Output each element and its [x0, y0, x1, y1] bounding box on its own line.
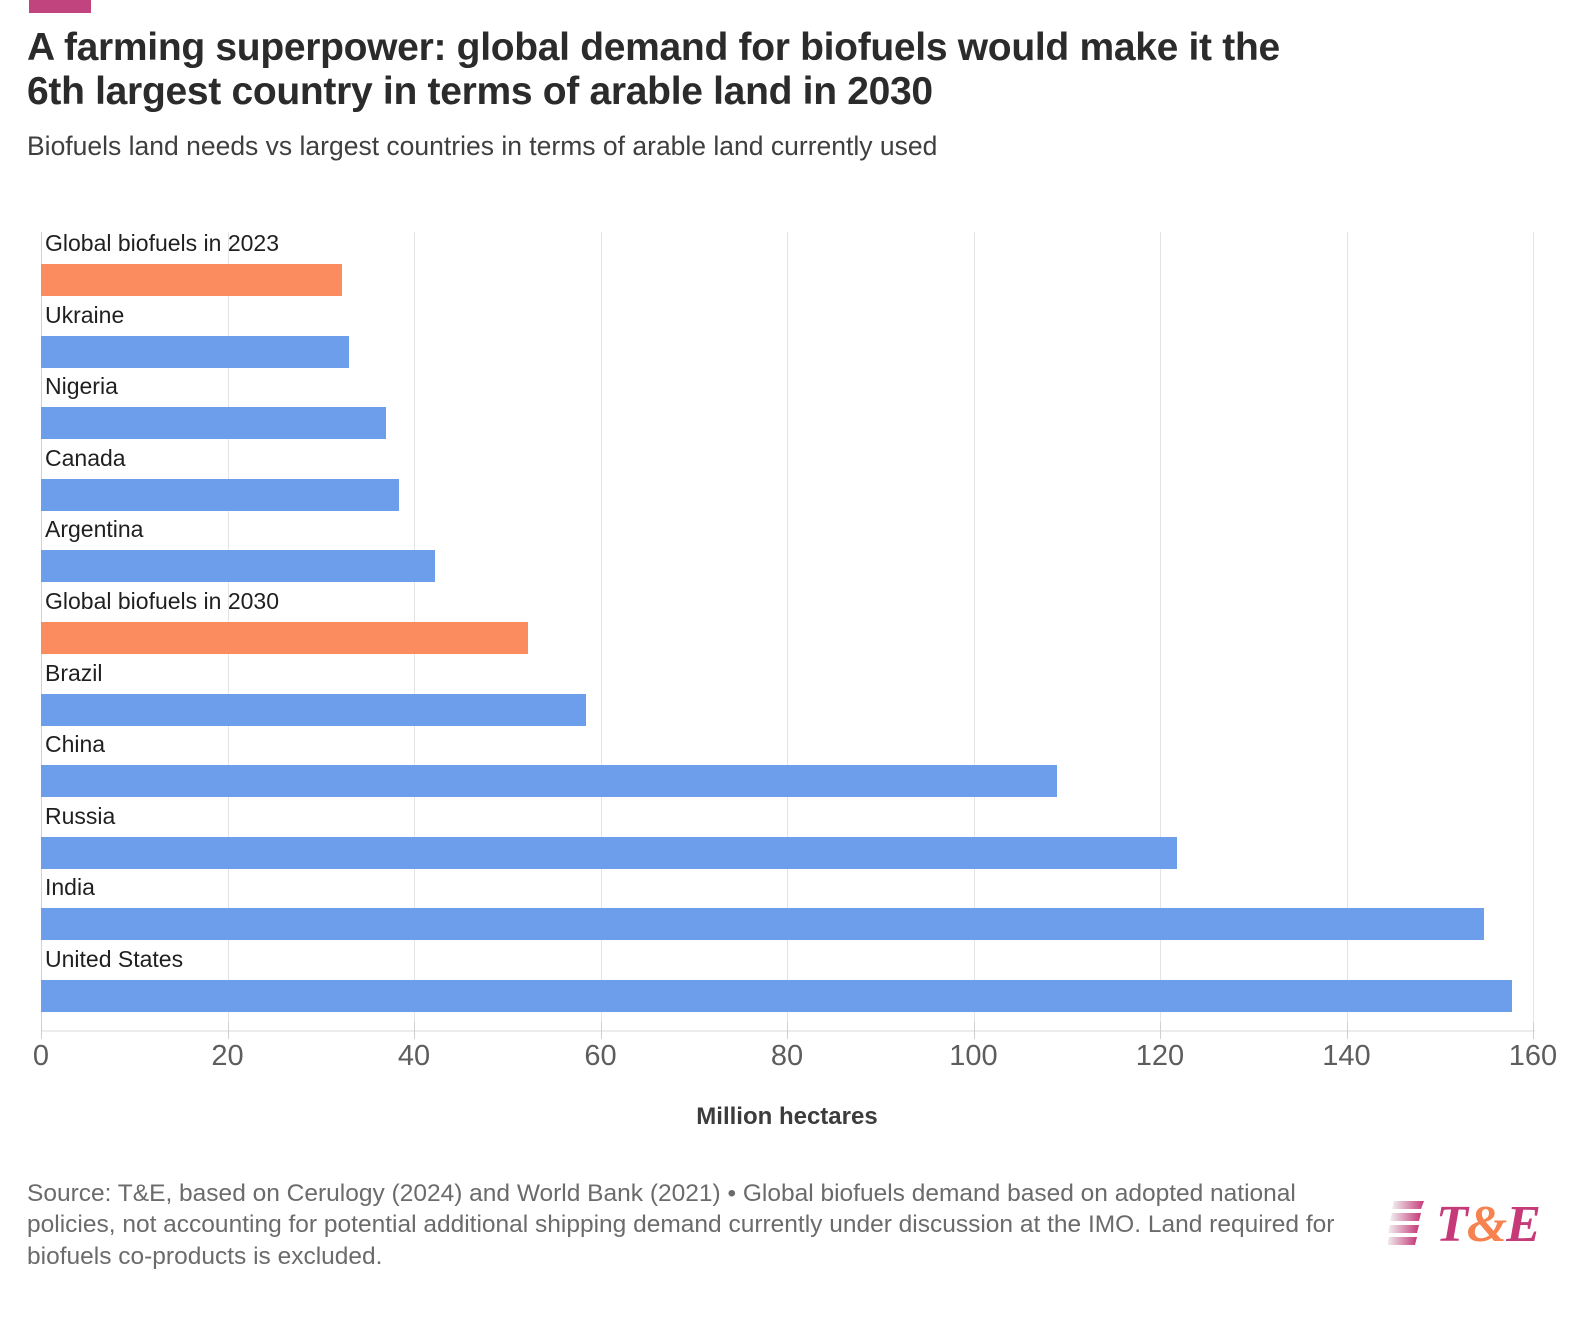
- bar[interactable]: [41, 908, 1484, 940]
- x-tick-label: 80: [771, 1040, 803, 1073]
- x-tick-mark: [1533, 1022, 1534, 1039]
- bar-row[interactable]: Argentina: [41, 518, 1533, 590]
- page-title: A farming superpower: global demand for …: [27, 26, 1327, 115]
- x-tick-mark: [1160, 1022, 1161, 1039]
- bar[interactable]: [41, 622, 528, 654]
- x-tick-label: 20: [211, 1040, 243, 1073]
- bar[interactable]: [41, 264, 342, 296]
- bar-label: India: [45, 876, 95, 899]
- logo-letter-t: T: [1436, 1196, 1467, 1253]
- bar-label: Brazil: [45, 662, 103, 685]
- x-tick-label: 100: [949, 1040, 997, 1073]
- x-tick-mark: [974, 1022, 975, 1039]
- x-tick-label: 0: [33, 1040, 49, 1073]
- stacked-stripes-icon: [1388, 1199, 1426, 1251]
- bar-row[interactable]: China: [41, 733, 1533, 805]
- bar-label: Ukraine: [45, 304, 124, 327]
- chart-plot-area: Global biofuels in 2023UkraineNigeriaCan…: [0, 232, 1590, 1032]
- x-tick-mark: [1347, 1022, 1348, 1039]
- x-tick-mark: [41, 1022, 42, 1039]
- bar[interactable]: [41, 980, 1512, 1012]
- bar-row[interactable]: Brazil: [41, 662, 1533, 734]
- bar-label: Russia: [45, 805, 115, 828]
- bar[interactable]: [41, 694, 586, 726]
- bar[interactable]: [41, 407, 386, 439]
- x-axis-ticks: 020406080100120140160: [41, 1022, 1533, 1082]
- x-tick-label: 160: [1509, 1040, 1557, 1073]
- x-tick-label: 140: [1322, 1040, 1370, 1073]
- bar-row[interactable]: India: [41, 876, 1533, 948]
- bar[interactable]: [41, 837, 1177, 869]
- bar-row[interactable]: Ukraine: [41, 304, 1533, 376]
- bar-label: United States: [45, 948, 183, 971]
- bar-label: Nigeria: [45, 375, 118, 398]
- x-tick-label: 60: [584, 1040, 616, 1073]
- bar-row[interactable]: Global biofuels in 2030: [41, 590, 1533, 662]
- x-tick-mark: [228, 1022, 229, 1039]
- chart-footer: Source: T&E, based on Cerulogy (2024) an…: [27, 1178, 1567, 1272]
- bar-label: Argentina: [45, 518, 143, 541]
- bar-row[interactable]: Canada: [41, 447, 1533, 519]
- bar-chart: Global biofuels in 2023UkraineNigeriaCan…: [41, 232, 1533, 1030]
- x-tick-label: 120: [1136, 1040, 1184, 1073]
- bar[interactable]: [41, 336, 349, 368]
- chart-page: A farming superpower: global demand for …: [0, 0, 1590, 1342]
- bar-rows: Global biofuels in 2023UkraineNigeriaCan…: [41, 232, 1533, 1030]
- bar-row[interactable]: Nigeria: [41, 375, 1533, 447]
- logo-letter-e: E: [1506, 1196, 1540, 1253]
- bar-row[interactable]: United States: [41, 948, 1533, 1020]
- x-tick-mark: [414, 1022, 415, 1039]
- bar-label: China: [45, 733, 105, 756]
- source-note: Source: T&E, based on Cerulogy (2024) an…: [27, 1178, 1372, 1272]
- bar[interactable]: [41, 765, 1057, 797]
- bar[interactable]: [41, 550, 435, 582]
- bar-label: Global biofuels in 2023: [45, 232, 279, 255]
- page-subtitle: Biofuels land needs vs largest countries…: [27, 131, 1327, 163]
- te-logo-text: T&E: [1436, 1199, 1540, 1251]
- x-tick-label: 40: [398, 1040, 430, 1073]
- bar[interactable]: [41, 479, 399, 511]
- x-tick-mark: [787, 1022, 788, 1039]
- bar-row[interactable]: Russia: [41, 805, 1533, 877]
- accent-bar: [29, 0, 91, 13]
- te-logo: T&E: [1388, 1199, 1540, 1251]
- chart-header: A farming superpower: global demand for …: [27, 26, 1327, 163]
- bar-label: Global biofuels in 2030: [45, 590, 279, 613]
- bar-label: Canada: [45, 447, 126, 470]
- x-axis-label: Million hectares: [41, 1103, 1533, 1131]
- gridline: [1533, 232, 1534, 1030]
- x-tick-mark: [601, 1022, 602, 1039]
- bar-row[interactable]: Global biofuels in 2023: [41, 232, 1533, 304]
- logo-ampersand: &: [1467, 1196, 1506, 1253]
